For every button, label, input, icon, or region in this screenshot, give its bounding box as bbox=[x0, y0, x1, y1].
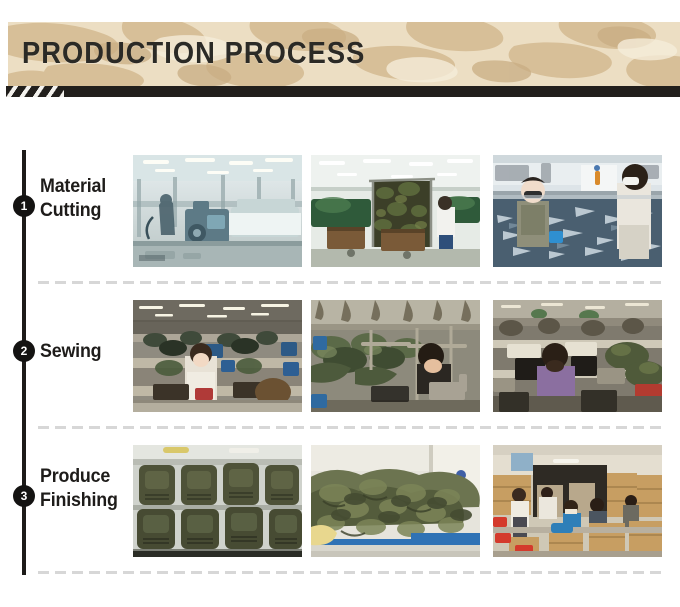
photo-finished-backpacks-rows bbox=[133, 445, 302, 557]
step-label-line: Produce bbox=[40, 465, 125, 489]
step-number-badge-1: 1 bbox=[13, 195, 35, 217]
photo-weaving-looms bbox=[133, 155, 302, 267]
step-label-line: Material bbox=[40, 175, 125, 199]
row-separator bbox=[38, 281, 662, 284]
process-steps-list: 1 Material Cutting bbox=[0, 0, 680, 607]
row-separator bbox=[38, 571, 662, 574]
photo-fabric-cutting-table bbox=[493, 155, 662, 267]
photo-sewing-station-closeup bbox=[311, 300, 480, 412]
photo-sewing-assembly-line bbox=[493, 300, 662, 412]
step-label-line: Sewing bbox=[40, 340, 125, 364]
photo-sewing-floor-wide bbox=[133, 300, 302, 412]
step-label-3: Produce Finishing bbox=[40, 465, 125, 513]
step-label-2: Sewing bbox=[40, 340, 125, 364]
step-number-badge-2: 2 bbox=[13, 340, 35, 362]
photo-packing-warehouse bbox=[493, 445, 662, 557]
photo-camo-fabric-inspection bbox=[311, 155, 480, 267]
step-label-line: Cutting bbox=[40, 199, 125, 223]
photo-bag-pile bbox=[311, 445, 480, 557]
step-label-line: Finishing bbox=[40, 489, 125, 513]
step-label-1: Material Cutting bbox=[40, 175, 125, 223]
step-number-badge-3: 3 bbox=[13, 485, 35, 507]
row-separator bbox=[38, 426, 662, 429]
